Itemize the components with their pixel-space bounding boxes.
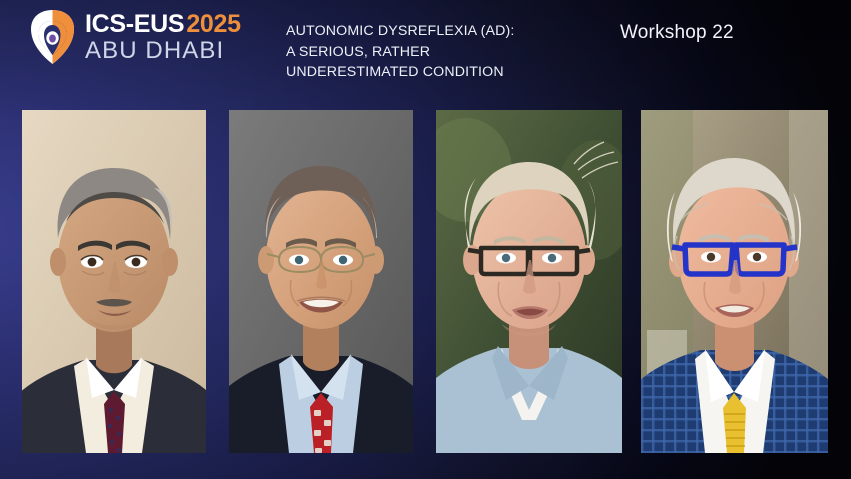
- workshop-number-label: Workshop 22: [620, 22, 734, 44]
- title-line-3: UNDERESTIMATED CONDITION: [286, 62, 586, 83]
- title-line-1: AUTONOMIC DYSREFLEXIA (AD):: [286, 21, 586, 42]
- speaker-portrait-3: [436, 110, 622, 453]
- presentation-slide: ICS-EUS2025 ABU DHABI AUTONOMIC DYSREFLE…: [0, 0, 851, 479]
- speaker-portrait-row: [0, 110, 851, 453]
- speaker-portrait-4: [641, 110, 828, 453]
- speaker-portrait-2: [229, 110, 413, 453]
- logo-brand-text: ICS-EUS: [85, 10, 184, 38]
- speaker-portrait-1: [22, 110, 206, 453]
- title-line-2: A SERIOUS, RATHER: [286, 42, 586, 63]
- conference-logo: ICS-EUS2025 ABU DHABI: [29, 9, 241, 65]
- logo-city-text: ABU DHABI: [85, 39, 241, 63]
- logo-wordmark: ICS-EUS2025 ABU DHABI: [85, 12, 241, 63]
- slide-header: ICS-EUS2025 ABU DHABI AUTONOMIC DYSREFLE…: [0, 0, 851, 104]
- ics-eus-shield-droplet-logo: [29, 9, 76, 65]
- logo-year-text: 2025: [186, 10, 240, 38]
- logo-line-brand: ICS-EUS2025: [85, 12, 241, 37]
- presentation-title: AUTONOMIC DYSREFLEXIA (AD): A SERIOUS, R…: [286, 21, 586, 83]
